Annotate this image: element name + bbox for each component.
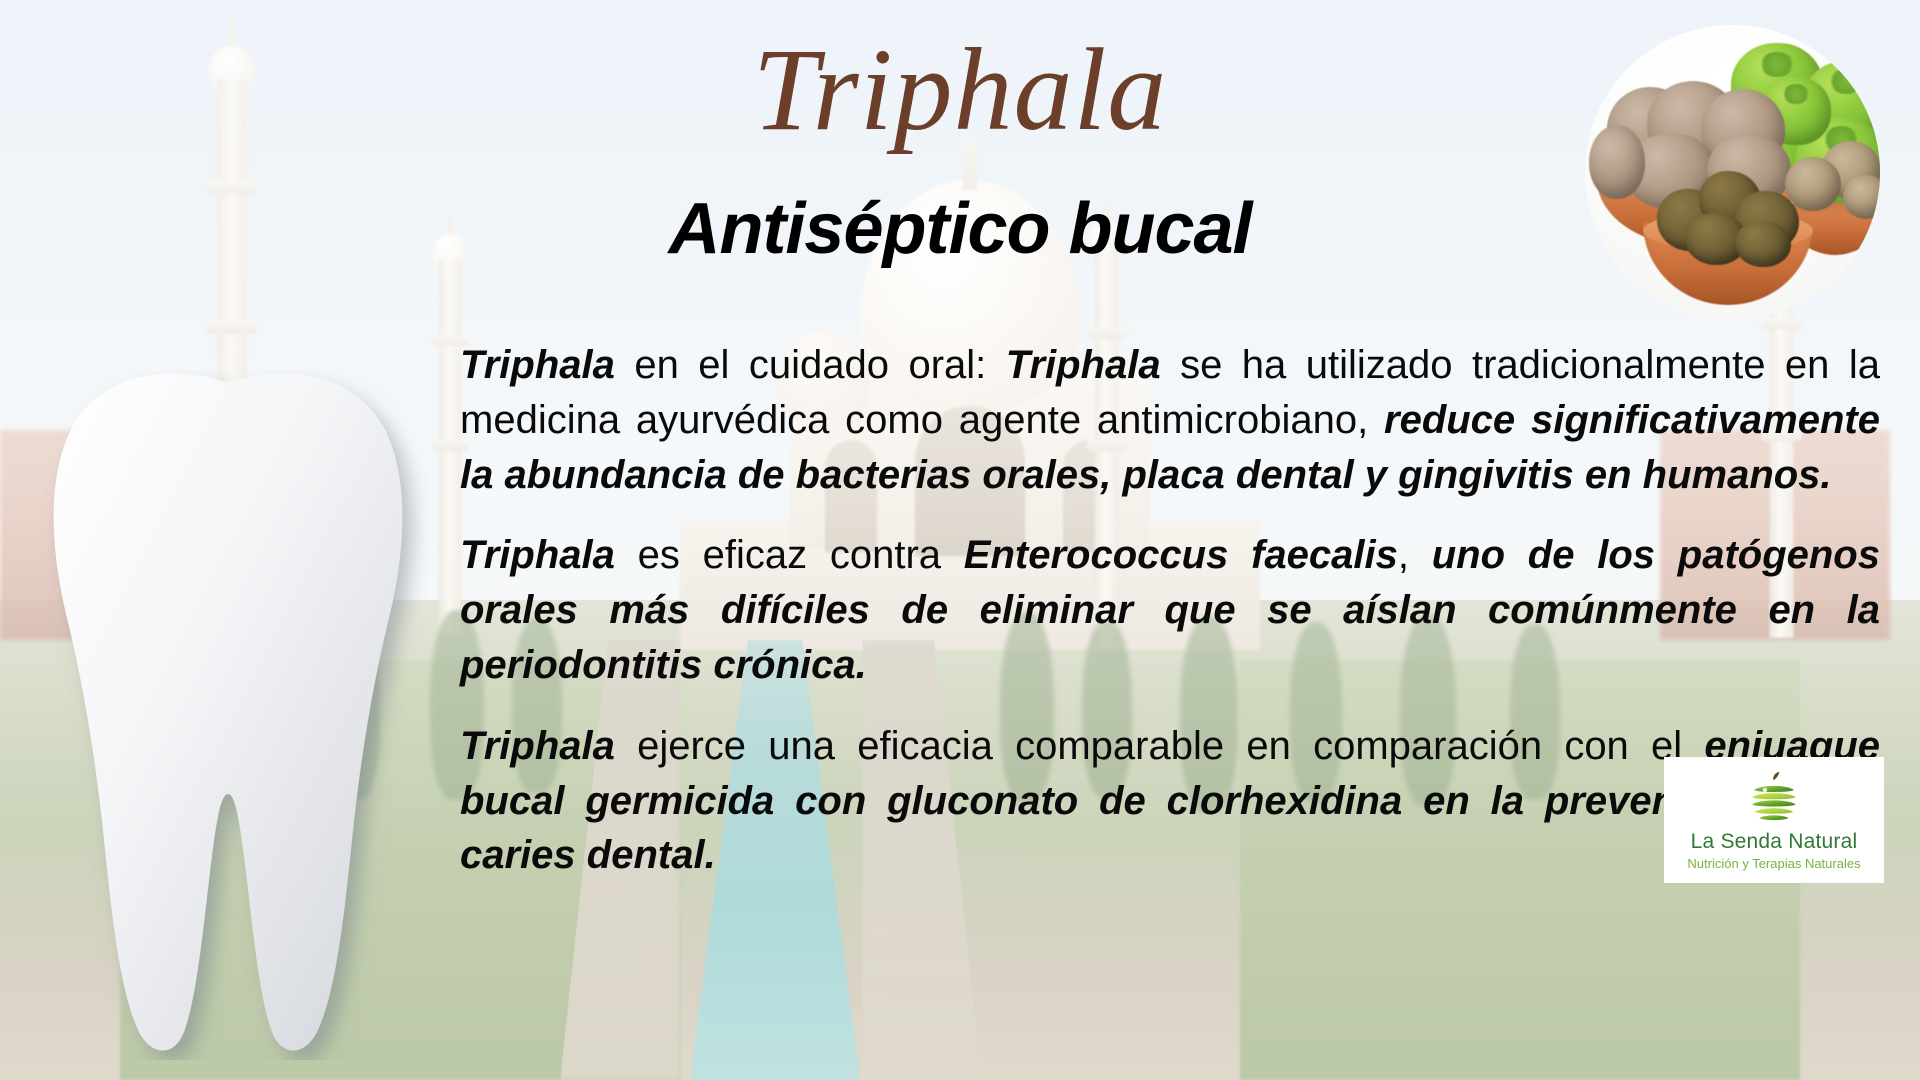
emphasised-run: Triphala (460, 533, 615, 577)
green-apple-spiral-icon (1745, 770, 1803, 828)
logo-tagline: Nutrición y Terapias Naturales (1687, 856, 1860, 871)
plain-run: ejerce una eficacia comparable en compar… (615, 724, 1705, 768)
emphasised-run: Triphala (460, 343, 615, 387)
paragraph-oral-care: Triphala en el cuidado oral: Triphala se… (460, 338, 1880, 502)
plain-run: , (1398, 533, 1432, 577)
plain-run: es eficaz contra (615, 533, 964, 577)
page-title: Triphala (0, 28, 1920, 152)
la-senda-natural-logo: La Senda Natural Nutrición y Terapias Na… (1664, 757, 1884, 883)
page-subtitle: Antiséptico bucal (0, 192, 1920, 268)
logo-brand-name: La Senda Natural (1691, 830, 1858, 854)
paragraph-enterococcus: Triphala es eficaz contra Enterococcus f… (460, 528, 1880, 692)
plain-run: en el cuidado oral: (615, 343, 1006, 387)
emphasised-run: Triphala (1006, 343, 1161, 387)
emphasised-run: Triphala (460, 724, 615, 768)
emphasised-run: Enterococcus faecalis (964, 533, 1398, 577)
